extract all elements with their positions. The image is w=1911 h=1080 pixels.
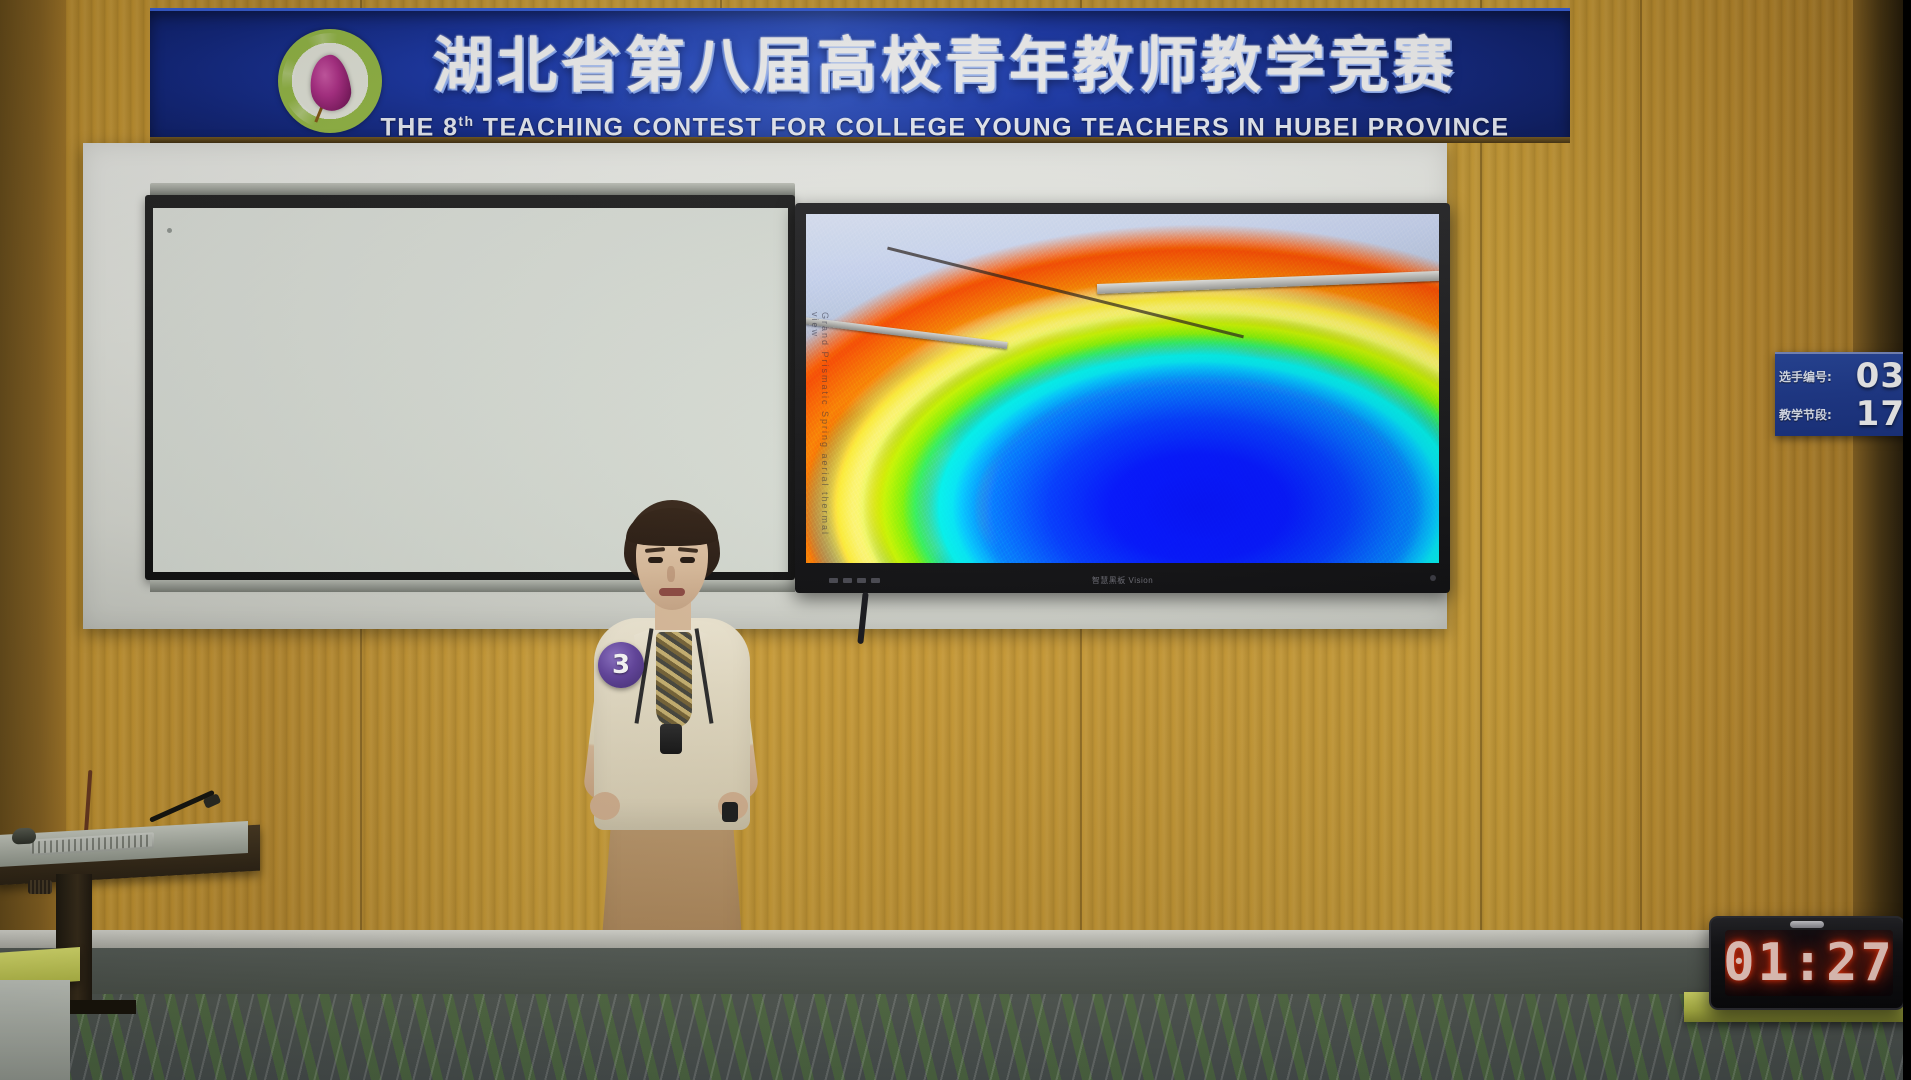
presenter-clicker-remote[interactable] xyxy=(722,802,738,822)
contestant-number-label: 选手编号: xyxy=(1779,368,1832,385)
video-frame: 湖北省第八届高校青年教师教学竞赛 THE 8th TEACHING CONTES… xyxy=(0,0,1911,1080)
side-desk-body xyxy=(0,980,70,1080)
teaching-segment-value: 17 xyxy=(1856,397,1905,431)
banner-title-cn: 湖北省第八届高校青年教师教学竞赛 xyxy=(350,31,1540,101)
lectern-speaker-grille-icon xyxy=(28,880,52,894)
banner-subtitle-en: THE 8th TEACHING CONTEST FOR COLLEGE YOU… xyxy=(350,106,1540,141)
timer-top-indicator-icon xyxy=(1790,921,1824,928)
presenter-mouth xyxy=(659,588,685,596)
presenter-scarf xyxy=(656,632,692,728)
teaching-segment-row: 教学节段: 17 xyxy=(1779,396,1907,432)
contestant-number-value: 03 xyxy=(1856,359,1905,393)
slide-image-texture xyxy=(806,214,1439,563)
whiteboard-corner-dot-icon xyxy=(167,228,172,233)
timer-screen: 01:27 xyxy=(1725,930,1893,996)
presenter-eye-right xyxy=(680,557,695,563)
smart-display-screen[interactable]: Grand Prismatic Spring aerial thermal vi… xyxy=(806,214,1439,563)
display-brand-label: 智慧黑板 Vision xyxy=(795,575,1450,586)
presenter-left-hand xyxy=(590,792,620,820)
timer-digits: 01:27 xyxy=(1725,937,1893,989)
presenter-number-badge: 3 xyxy=(598,642,644,688)
teaching-segment-label: 教学节段: xyxy=(1779,406,1832,423)
lectern-mouse[interactable] xyxy=(12,827,36,844)
presenter-eye-left xyxy=(648,557,663,563)
contest-banner: 湖北省第八届高校青年教师教学竞赛 THE 8th TEACHING CONTES… xyxy=(150,8,1570,141)
contestant-number-row: 选手编号: 03 xyxy=(1779,358,1907,394)
contestant-info-panel: 选手编号: 03 教学节段: 17 xyxy=(1775,352,1911,436)
presenter-badge-number: 3 xyxy=(612,650,630,680)
presenter-microphone-pack xyxy=(660,724,682,754)
slide-sidebar-caption: Grand Prismatic Spring aerial thermal vi… xyxy=(810,312,830,563)
countdown-timer: 01:27 xyxy=(1709,916,1905,1010)
wall-left-edge xyxy=(0,0,66,930)
floor-front-strip xyxy=(0,948,1911,994)
banner-subtitle-en-ordinal: th xyxy=(458,113,474,129)
presenter-nose xyxy=(667,566,675,582)
wall-baseboard xyxy=(0,930,1911,948)
smart-display[interactable]: Grand Prismatic Spring aerial thermal vi… xyxy=(795,203,1450,593)
letterbox-right xyxy=(1903,0,1911,1080)
display-power-led-icon xyxy=(1430,575,1436,581)
